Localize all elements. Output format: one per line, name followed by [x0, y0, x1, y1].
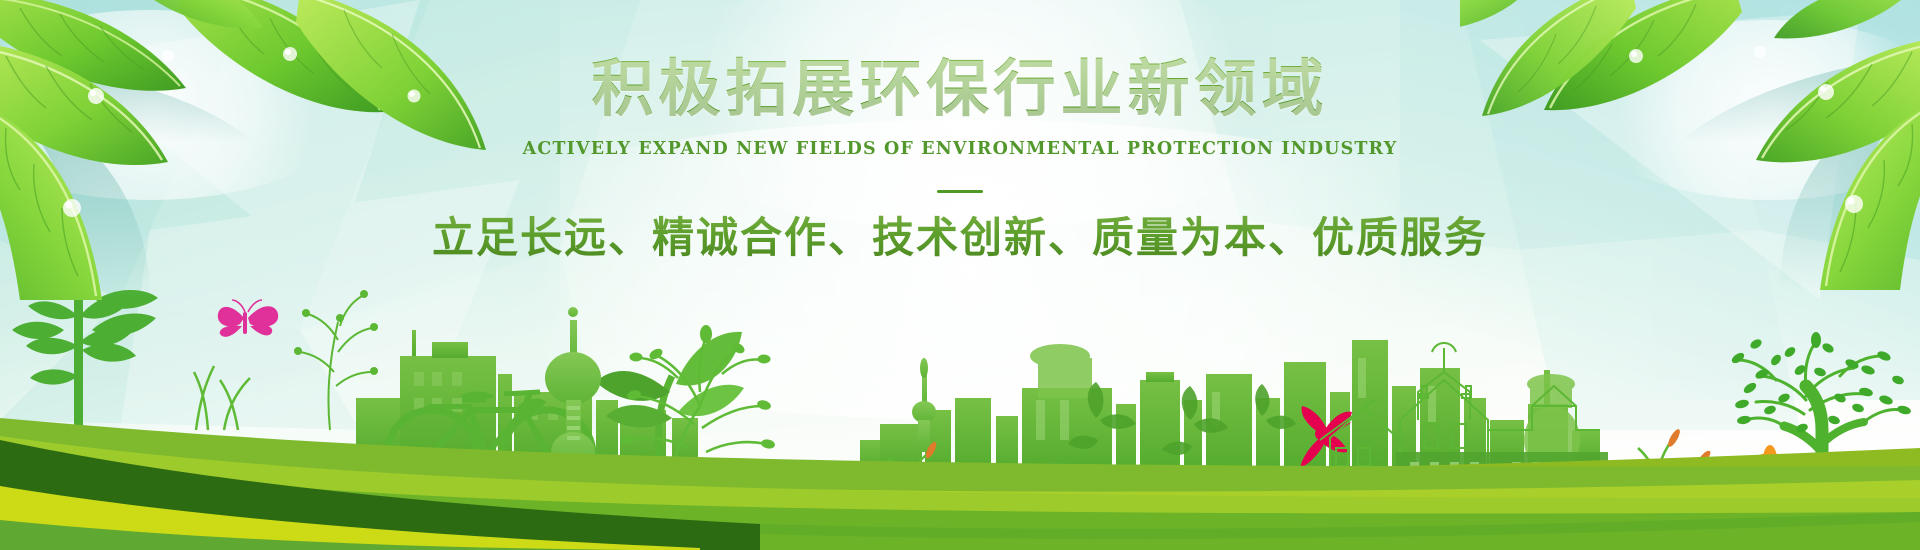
divider-wrapper [0, 180, 1920, 190]
banner-tagline: 立足长远、精诚合作、技术创新、质量为本、优质服务 [0, 204, 1920, 265]
title-divider [937, 190, 983, 193]
page-title: 积极拓展环保行业新领域 [0, 56, 1920, 122]
environmental-banner: 积极拓展环保行业新领域 ACTIVELY EXPAND NEW FIELDS O… [0, 0, 1920, 550]
banner-text-block: 积极拓展环保行业新领域 ACTIVELY EXPAND NEW FIELDS O… [0, 56, 1920, 265]
banner-subtitle: ACTIVELY EXPAND NEW FIELDS OF ENVIRONMEN… [0, 139, 1920, 159]
